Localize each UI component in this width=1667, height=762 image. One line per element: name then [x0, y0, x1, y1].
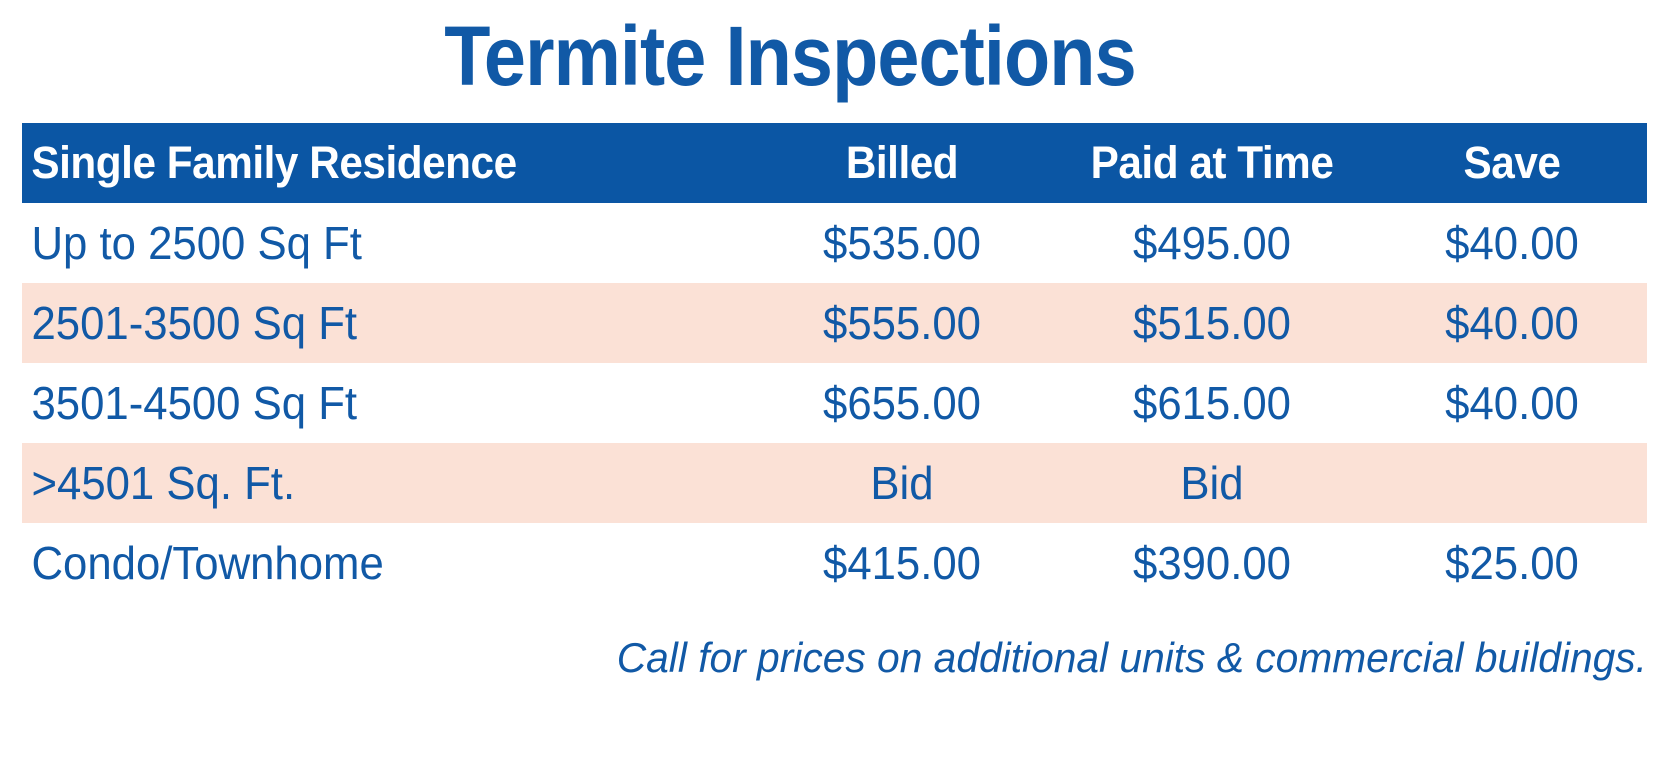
table-row: Up to 2500 Sq Ft $535.00 $495.00 $40.00 — [22, 203, 1647, 283]
table-row: 2501-3500 Sq Ft $555.00 $515.00 $40.00 — [22, 283, 1647, 363]
cell-billed: $535.00 — [764, 203, 1040, 283]
footnote-text: Call for prices on additional units & co… — [71, 623, 1647, 693]
cell-residence: 3501-4500 Sq Ft — [22, 363, 720, 443]
table-row: 3501-4500 Sq Ft $655.00 $615.00 $40.00 — [22, 363, 1647, 443]
cell-save: $40.00 — [1384, 283, 1641, 363]
cell-save: $40.00 — [1384, 203, 1641, 283]
cell-residence: >4501 Sq. Ft. — [22, 443, 720, 523]
cell-residence: Condo/Townhome — [22, 523, 720, 603]
cell-residence: Up to 2500 Sq Ft — [22, 203, 720, 283]
cell-billed: $655.00 — [764, 363, 1040, 443]
cell-billed: $415.00 — [764, 523, 1040, 603]
table-row: >4501 Sq. Ft. Bid Bid — [22, 443, 1647, 523]
cell-paid: $495.00 — [1055, 203, 1369, 283]
cell-paid: $390.00 — [1055, 523, 1369, 603]
table-header-row: Single Family Residence Billed Paid at T… — [22, 123, 1647, 203]
column-header-billed: Billed — [766, 123, 1039, 203]
cell-paid: Bid — [1055, 443, 1369, 523]
column-header-save: Save — [1385, 123, 1639, 203]
cell-billed: Bid — [764, 443, 1040, 523]
cell-residence: 2501-3500 Sq Ft — [22, 283, 720, 363]
page-title: Termite Inspections — [79, 6, 1501, 106]
column-header-residence: Single Family Residence — [22, 123, 713, 203]
column-header-paid-at-time: Paid at Time — [1057, 123, 1367, 203]
cell-save: $25.00 — [1384, 523, 1641, 603]
cell-billed: $555.00 — [764, 283, 1040, 363]
pricing-table: Single Family Residence Billed Paid at T… — [22, 123, 1647, 603]
table-row: Condo/Townhome $415.00 $390.00 $25.00 — [22, 523, 1647, 603]
cell-save: $40.00 — [1384, 363, 1641, 443]
cell-paid: $515.00 — [1055, 283, 1369, 363]
cell-paid: $615.00 — [1055, 363, 1369, 443]
termite-inspections-price-table: Termite Inspections Single Family Reside… — [0, 0, 1667, 762]
